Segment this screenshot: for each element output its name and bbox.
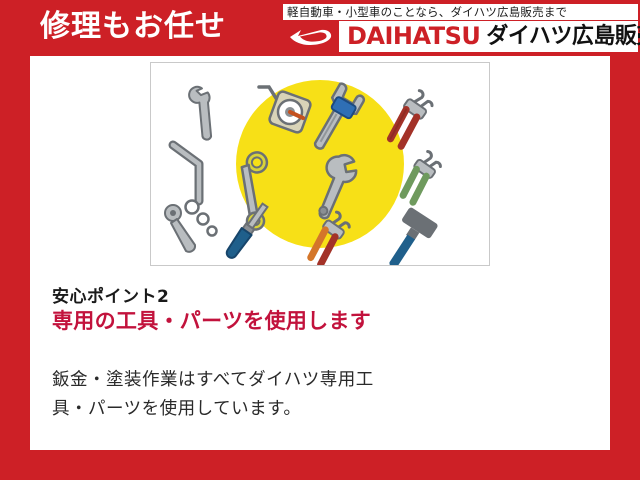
brand-dealer-name: ダイハツ広島販売: [486, 21, 640, 52]
point-heading: 専用の工具・パーツを使用します: [52, 308, 397, 334]
brand-wordmark: DAIHATSU: [339, 21, 486, 52]
brand-tagline: 軽自動車・小型車のことなら、ダイハツ広島販売まで: [283, 4, 638, 20]
tools-illustration-frame: [150, 62, 490, 266]
socket-ratchet-set-icon: [165, 201, 217, 252]
flathead-screwdriver-icon: [224, 202, 270, 260]
point-label: 安心ポイント2: [52, 282, 169, 307]
brand-block: 軽自動車・小型車のことなら、ダイハツ広島販売まで DAIHATSU ダイハツ広島…: [283, 4, 638, 52]
tools-illustration: [151, 63, 489, 265]
content-card: 安心ポイント2 専用の工具・パーツを使用します 鈑金・塗装作業はすべてダイハツ専…: [30, 56, 610, 450]
brand-logo-row: DAIHATSU ダイハツ広島販売: [283, 21, 638, 52]
open-end-wrench-icon: [172, 84, 231, 142]
slide-header: 修理もお任せ 軽自動車・小型車のことなら、ダイハツ広島販売まで DAIHATSU…: [0, 0, 640, 56]
body-text: 鈑金・塗装作業はすべてダイハツ専用工具・パーツを使用しています。: [52, 366, 402, 424]
page-title: 修理もお任せ: [40, 8, 226, 46]
daihatsu-d-emblem-icon: [283, 21, 339, 52]
hex-allen-key-icon: [173, 145, 199, 201]
slide-root: 修理もお任せ 軽自動車・小型車のことなら、ダイハツ広島販売まで DAIHATSU…: [0, 0, 640, 480]
pliers-red-icon: [384, 88, 435, 148]
